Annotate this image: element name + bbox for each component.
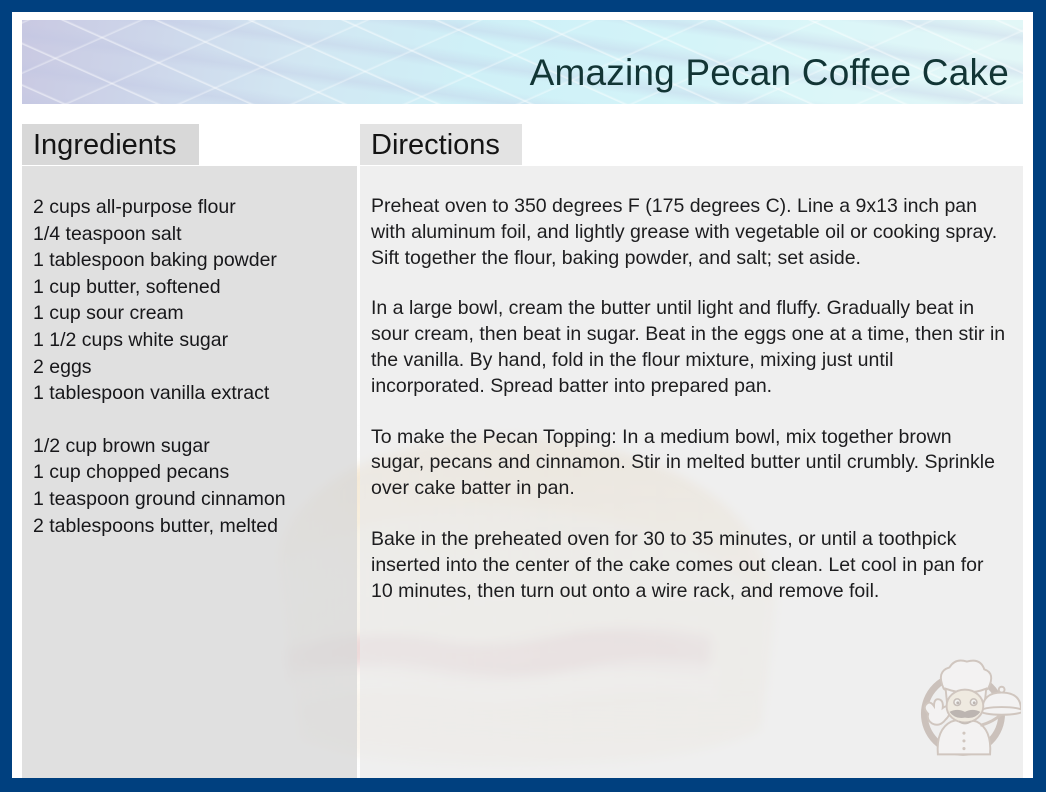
direction-list: Preheat oven to 350 degrees F (175 degre… [371,194,1009,604]
ingredient-item [33,407,343,433]
ingredients-section: Ingredients 2 cups all-purpose flour1/4 … [22,124,357,778]
ingredient-item: 1 tablespoon baking powder [33,247,343,274]
ingredients-tab-label: Ingredients [22,124,199,165]
header-banner: Amazing Pecan Coffee Cake [22,20,1023,104]
page-title: Amazing Pecan Coffee Cake [530,52,1009,94]
recipe-card: Amazing Pecan Coffee Cake Ingredients 2 … [0,0,1046,792]
ingredient-item: 1 cup chopped pecans [33,459,343,486]
recipe-page: Amazing Pecan Coffee Cake Ingredients 2 … [12,12,1033,778]
direction-step: To make the Pecan Topping: In a medium b… [371,425,1009,502]
ingredient-item: 1 1/2 cups white sugar [33,327,343,354]
ingredient-item: 2 tablespoons butter, melted [33,513,343,540]
ingredient-list: 2 cups all-purpose flour1/4 teaspoon sal… [33,194,343,539]
direction-step: Preheat oven to 350 degrees F (175 degre… [371,194,1009,271]
ingredient-item: 1 cup sour cream [33,300,343,327]
ingredients-panel: 2 cups all-purpose flour1/4 teaspoon sal… [22,166,357,778]
ingredient-item: 1/2 cup brown sugar [33,433,343,460]
ingredient-item: 1/4 teaspoon salt [33,221,343,248]
ingredient-item: 2 eggs [33,354,343,381]
ingredient-item: 1 cup butter, softened [33,274,343,301]
directions-panel: Preheat oven to 350 degrees F (175 degre… [360,166,1023,778]
directions-section: Directions Preheat oven to 350 degrees F… [360,124,1023,778]
ingredient-item: 1 teaspoon ground cinnamon [33,486,343,513]
directions-tab-label: Directions [360,124,522,165]
ingredient-item: 1 tablespoon vanilla extract [33,380,343,407]
direction-step: In a large bowl, cream the butter until … [371,296,1009,399]
direction-step: Bake in the preheated oven for 30 to 35 … [371,527,1009,604]
ingredient-item: 2 cups all-purpose flour [33,194,343,221]
